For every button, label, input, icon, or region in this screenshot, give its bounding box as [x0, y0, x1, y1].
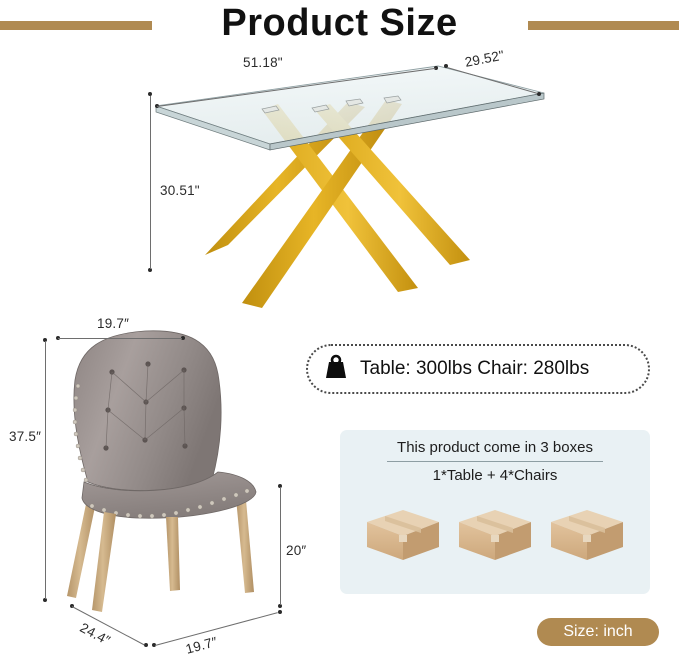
weight-capacity-badge: Table: 300lbs Chair: 280lbs: [306, 344, 650, 394]
size-unit-badge: Size: inch: [537, 618, 659, 646]
chair-illustration: [40, 322, 290, 622]
table-svg: [150, 60, 550, 310]
table-illustration: [150, 60, 550, 310]
chair-backrest: [73, 331, 221, 491]
page-title: Product Size: [0, 0, 679, 46]
carton-icon: [363, 502, 443, 564]
chair-height-label: 37.5″: [9, 429, 41, 444]
chair-svg: [40, 322, 290, 622]
chair-height-dimension-line: [45, 341, 46, 599]
weight-icon: [322, 353, 350, 386]
carton-icon: [455, 502, 535, 564]
dim-dot: [537, 92, 541, 96]
packaging-box-count-text: This product come in 3 boxes: [340, 439, 650, 461]
chair-width-label: 19.7″: [97, 316, 129, 331]
packaging-contents-text: 1*Table + 4*Chairs: [340, 467, 650, 484]
packaging-divider: [387, 461, 603, 462]
table-height-dimension-line: [150, 96, 151, 269]
product-size-infographic: Product Size: [0, 0, 679, 656]
chair-width-dimension-line: [58, 338, 182, 339]
dim-dot: [278, 610, 282, 614]
table-height-label: 30.51": [160, 183, 200, 198]
weight-capacity-text: Table: 300lbs Chair: 280lbs: [360, 358, 589, 380]
chair-seat-height-dimension-line: [280, 487, 281, 605]
chair-legs-front: [92, 512, 180, 612]
packaging-carton-row: [340, 502, 650, 564]
chair-seat-height-label: 20″: [286, 543, 306, 558]
chair-bottom-width-label: 19.7″: [184, 634, 219, 656]
carton-icon: [547, 502, 627, 564]
table-width-label: 51.18": [243, 55, 283, 70]
packaging-panel: This product come in 3 boxes 1*Table + 4…: [340, 430, 650, 594]
